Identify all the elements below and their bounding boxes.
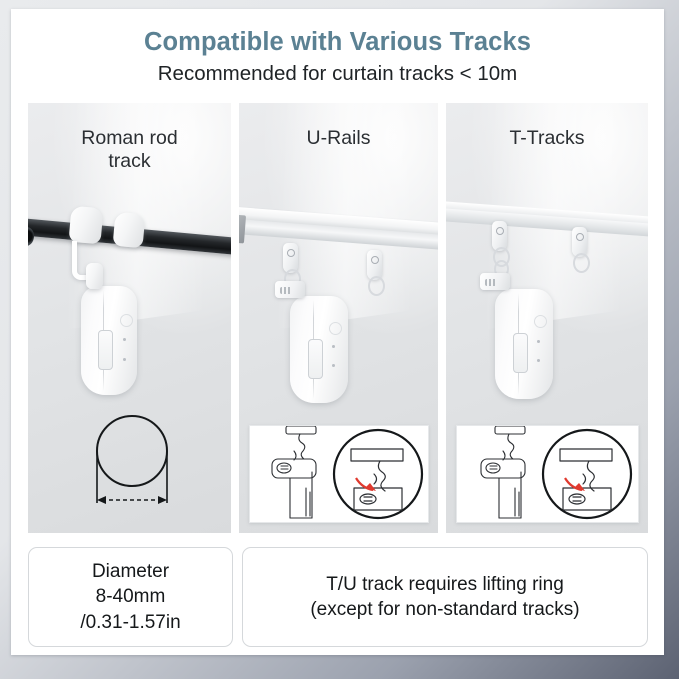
rod-cross-section-circle (97, 416, 167, 486)
inset-device-sides (290, 472, 312, 518)
page-title: Compatible with Various Tracks (11, 27, 664, 57)
caption-line-1: T/U track requires lifting ring (310, 572, 579, 597)
panel-label-line1: U-Rails (239, 127, 438, 150)
inset-clamp-grip (490, 466, 497, 469)
panel-label-roman-rod: Roman rod track (28, 127, 231, 172)
device-led-dot-2 (123, 358, 126, 361)
glider-eye (496, 227, 504, 235)
infographic-root: Compatible with Various Tracks Recommend… (0, 0, 679, 679)
inset-device-lines (515, 488, 519, 516)
inset-magnified-callout (334, 430, 422, 518)
page-subtitle: Recommended for curtain tracks < 10m (11, 62, 664, 87)
caption-diameter-text: Diameter 8-40mm /0.31-1.57in (80, 559, 180, 636)
panel-u-rails: U-Rails (239, 103, 438, 533)
lifting-ring-right (573, 253, 590, 273)
roller-clamp-right (113, 212, 146, 248)
device-button-slot[interactable] (98, 330, 113, 370)
panel-label-line1: T-Tracks (446, 127, 648, 150)
diameter-diagram-svg (86, 408, 178, 513)
header: Compatible with Various Tracks Recommend… (11, 27, 664, 87)
inset-device-sides (499, 472, 521, 518)
curtain-robot-device (495, 289, 553, 399)
panel-label-line1: Roman rod (28, 127, 231, 150)
diameter-arrow-left (97, 496, 106, 504)
caption-lifting-ring: T/U track requires lifting ring (except … (242, 547, 648, 647)
clamp-grip-marks (485, 279, 497, 286)
inset-rail (286, 426, 316, 434)
caption-line-2: (except for non-standard tracks) (310, 597, 579, 622)
lifting-ring-clamp (275, 281, 305, 298)
inset-device-lines (306, 488, 310, 516)
inset-rail (495, 426, 525, 434)
inset-magnified-callout (543, 430, 631, 518)
caption-row: Diameter 8-40mm /0.31-1.57in T/U track r… (28, 547, 648, 647)
caption-line-3: /0.31-1.57in (80, 610, 180, 636)
glider-eye (287, 249, 295, 257)
panel-roman-rod: Roman rod track (28, 103, 231, 533)
glider-eye (371, 256, 379, 264)
callout-circle (543, 430, 631, 518)
lifting-ring-right (368, 276, 385, 296)
panel-label-u-rails: U-Rails (239, 127, 438, 150)
callout-circle (334, 430, 422, 518)
caption-diameter: Diameter 8-40mm /0.31-1.57in (28, 547, 233, 647)
lifting-ring-inset-diagram (456, 425, 639, 523)
inset-clamp-body (272, 459, 316, 478)
inset-clamp-body (481, 459, 525, 478)
inset-hook (299, 434, 305, 459)
inset-clamp-eye (277, 463, 291, 473)
lifting-ring-inset-diagram (249, 425, 429, 523)
caption-lifting-ring-text: T/U track requires lifting ring (except … (310, 572, 579, 623)
inset-hook (508, 434, 514, 459)
panel-t-tracks: T-Tracks (446, 103, 648, 533)
panel-label-line2: track (28, 150, 231, 173)
device-button-slot[interactable] (513, 333, 528, 373)
diameter-diagram (86, 408, 178, 513)
clamp-grip-marks (280, 287, 292, 294)
product-infographic-card: Compatible with Various Tracks Recommend… (11, 9, 664, 655)
panel-label-t-tracks: T-Tracks (446, 127, 648, 150)
inset-clamp-eye (486, 463, 500, 473)
caption-line-1: Diameter (80, 559, 180, 585)
curtain-robot-device (81, 286, 137, 395)
device-button-slot[interactable] (308, 339, 323, 379)
mount-collar (86, 263, 103, 289)
caption-line-2: 8-40mm (80, 584, 180, 610)
glider-eye (576, 233, 584, 241)
inset-svg (250, 426, 428, 522)
roller-clamp-left (68, 206, 103, 245)
curtain-robot-device (290, 296, 348, 403)
inset-clamp-grip (281, 466, 288, 469)
inset-svg (457, 426, 638, 522)
diameter-arrow-right (158, 496, 167, 504)
track-panels: Roman rod track (28, 103, 648, 533)
lifting-ring-clamp (480, 273, 510, 290)
